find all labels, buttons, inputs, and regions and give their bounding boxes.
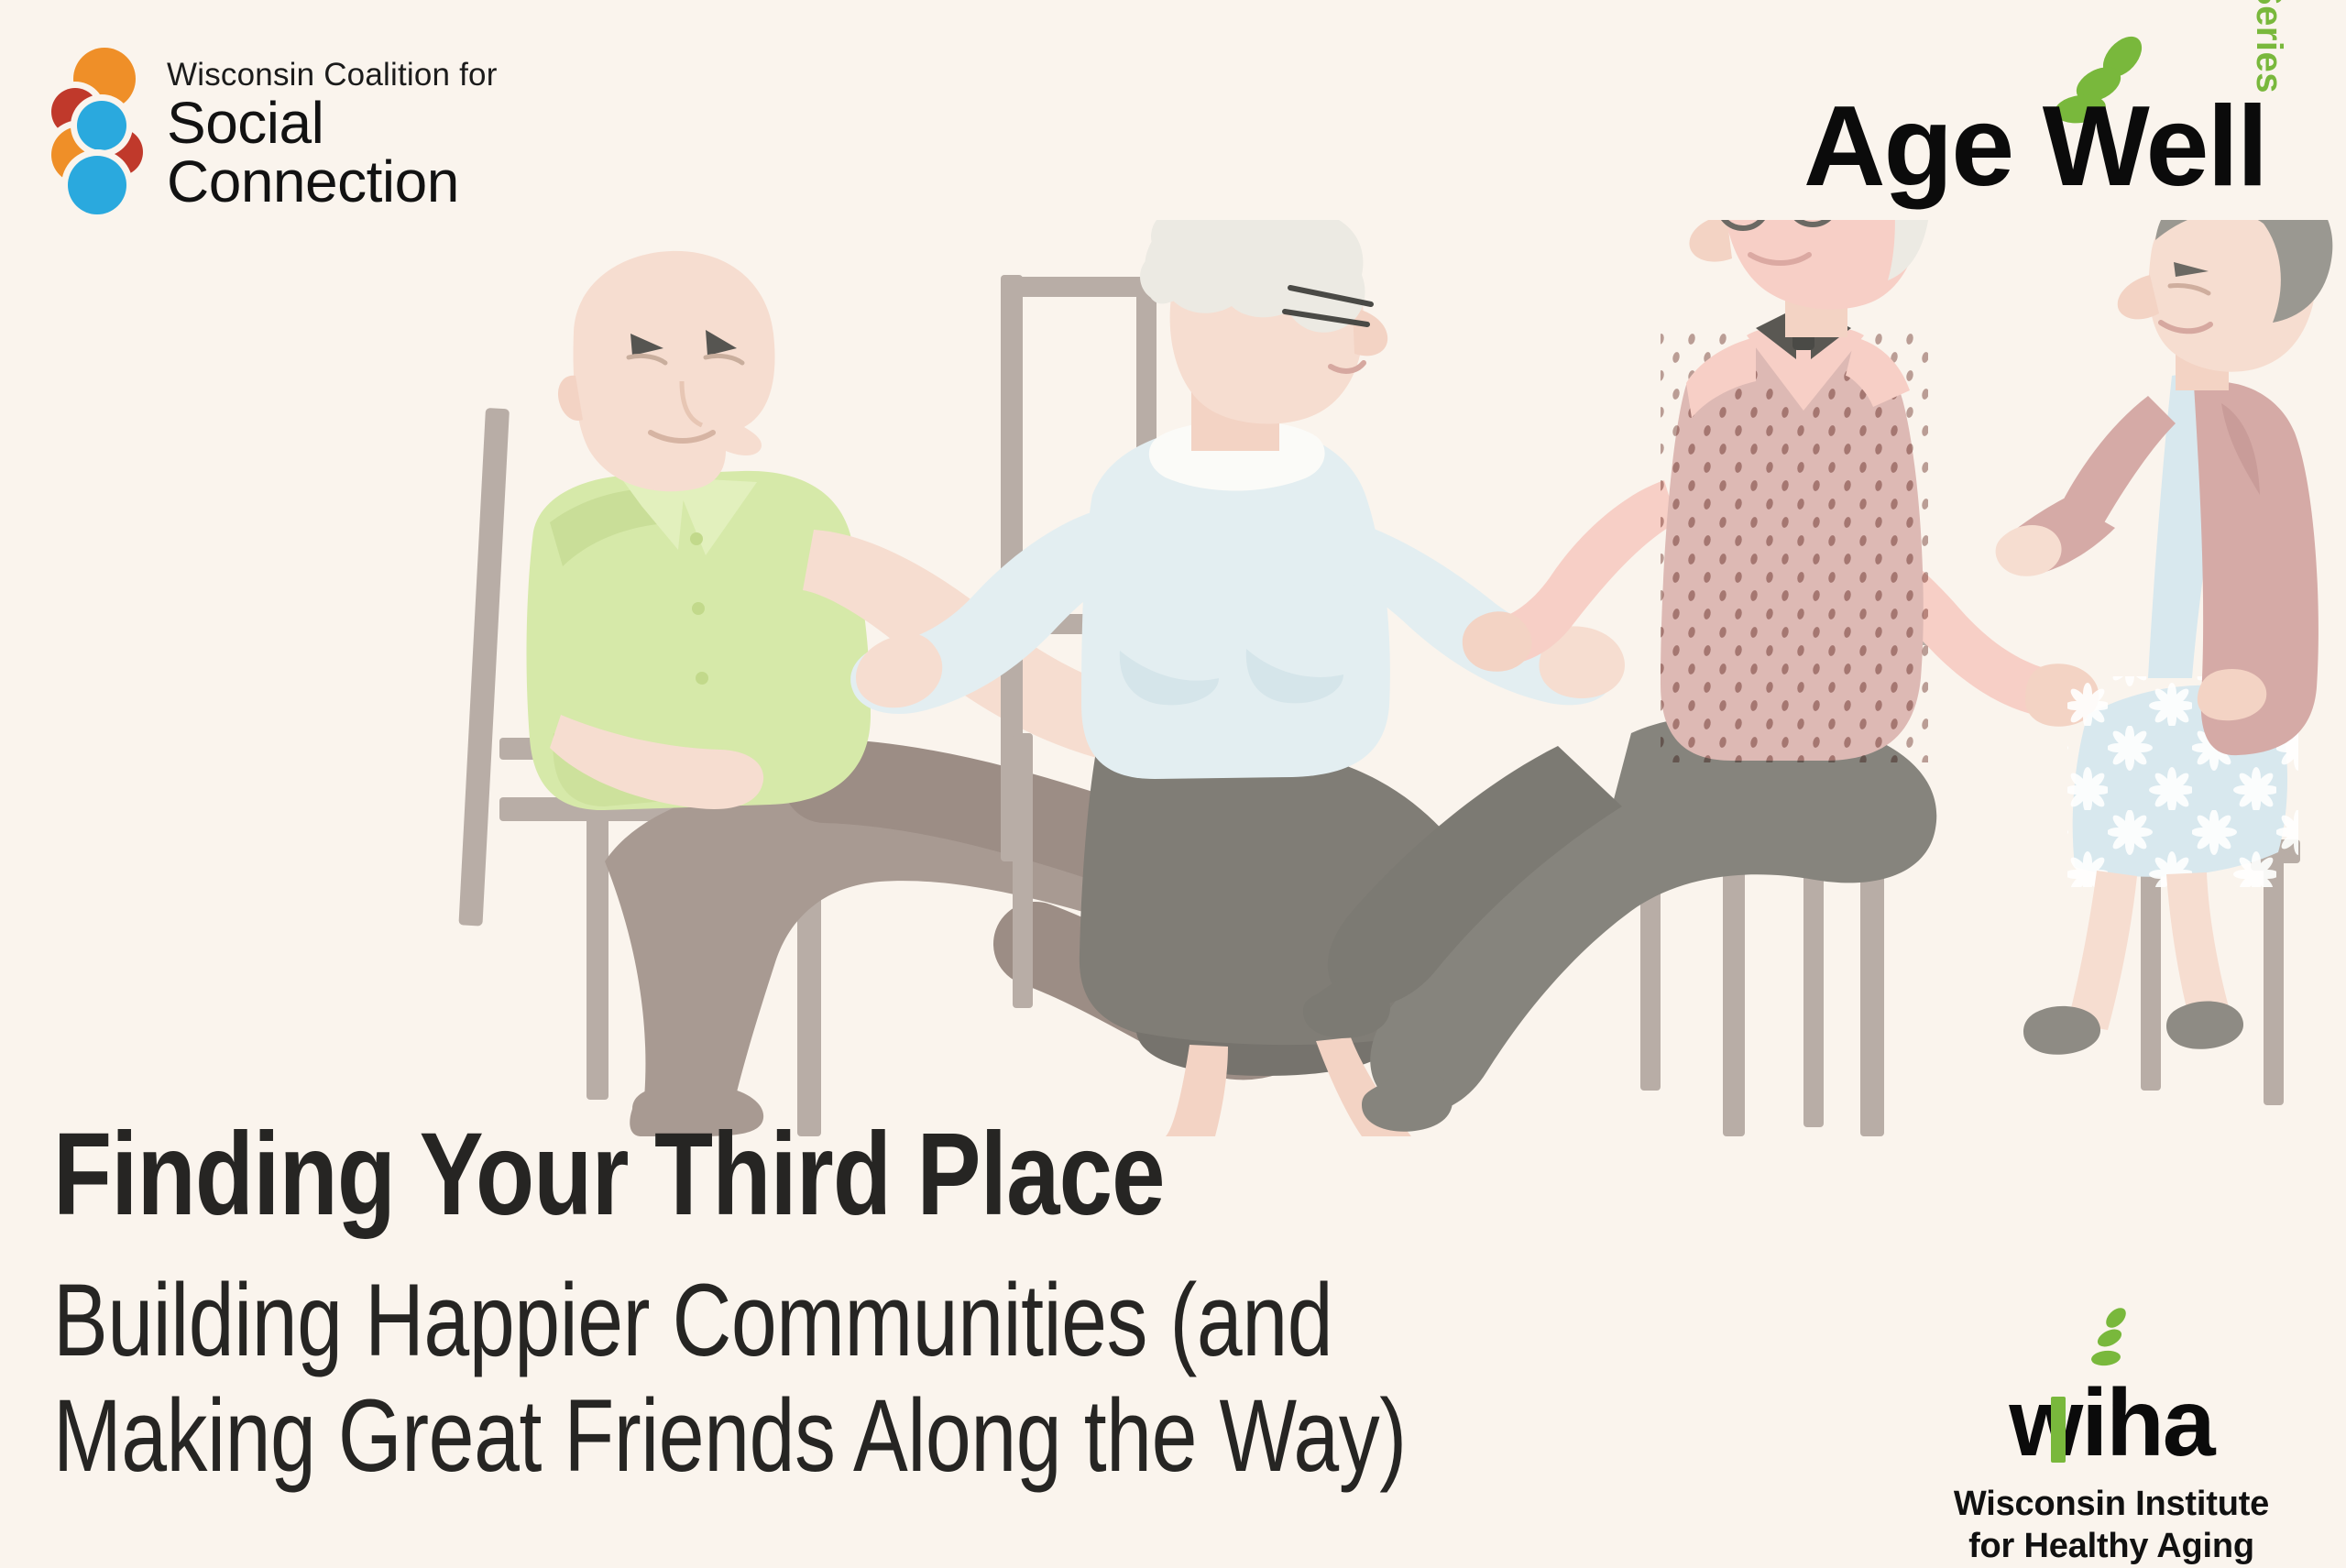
wiha-green-i-stem	[2051, 1397, 2066, 1463]
wcsc-word-connection: Connection	[167, 152, 498, 212]
wiha-wordmark-text: wiha	[2009, 1370, 2213, 1476]
age-well-wordmark: Age Well	[1803, 90, 2266, 203]
wisconsin-coalition-social-connection-logo: Wisconsin Coalition for Social Connectio…	[51, 48, 498, 222]
wiha-subtitle-line-2: for Healthy Aging	[1932, 1525, 2291, 1567]
wiha-subtitle-line-1: Wisconsin Institute	[1932, 1483, 2291, 1525]
age-well-series-logo: Age Well Series	[1796, 33, 2291, 207]
title-block: Finding Your Third Place Building Happie…	[53, 1116, 1941, 1489]
page-subtitle-line-1: Building Happier Communities (and	[53, 1266, 1563, 1375]
wcsc-circles-mark	[51, 48, 150, 222]
wcsc-wordmark: Wisconsin Coalition for Social Connectio…	[167, 57, 498, 213]
logo-circle-blue-center	[77, 101, 126, 150]
wiha-leaf-icon-3	[2090, 1349, 2121, 1366]
wiha-leaf-icon-2	[2095, 1326, 2124, 1351]
illustration-seniors-holding-hands	[0, 220, 2346, 1136]
figure-3-man-vest-bowtie	[1303, 220, 2099, 1132]
logo-circle-blue-bottom	[68, 156, 126, 214]
wiha-leaf-icon-group	[1932, 1310, 2291, 1378]
page-title: Finding Your Third Place	[53, 1116, 1601, 1234]
age-well-series-label: Series	[2248, 0, 2289, 93]
page-subtitle-line-2: Making Great Friends Along the Way)	[53, 1382, 1563, 1490]
wcsc-word-social: Social	[167, 93, 498, 152]
wiha-wordmark: wiha	[1932, 1378, 2291, 1474]
wiha-leaf-icon-1	[2102, 1304, 2130, 1332]
poster-canvas: Wisconsin Coalition for Social Connectio…	[0, 0, 2346, 1564]
wcsc-tagline: Wisconsin Coalition for	[167, 57, 498, 93]
wisconsin-institute-healthy-aging-logo: wiha Wisconsin Institute for Healthy Agi…	[1932, 1310, 2291, 1568]
